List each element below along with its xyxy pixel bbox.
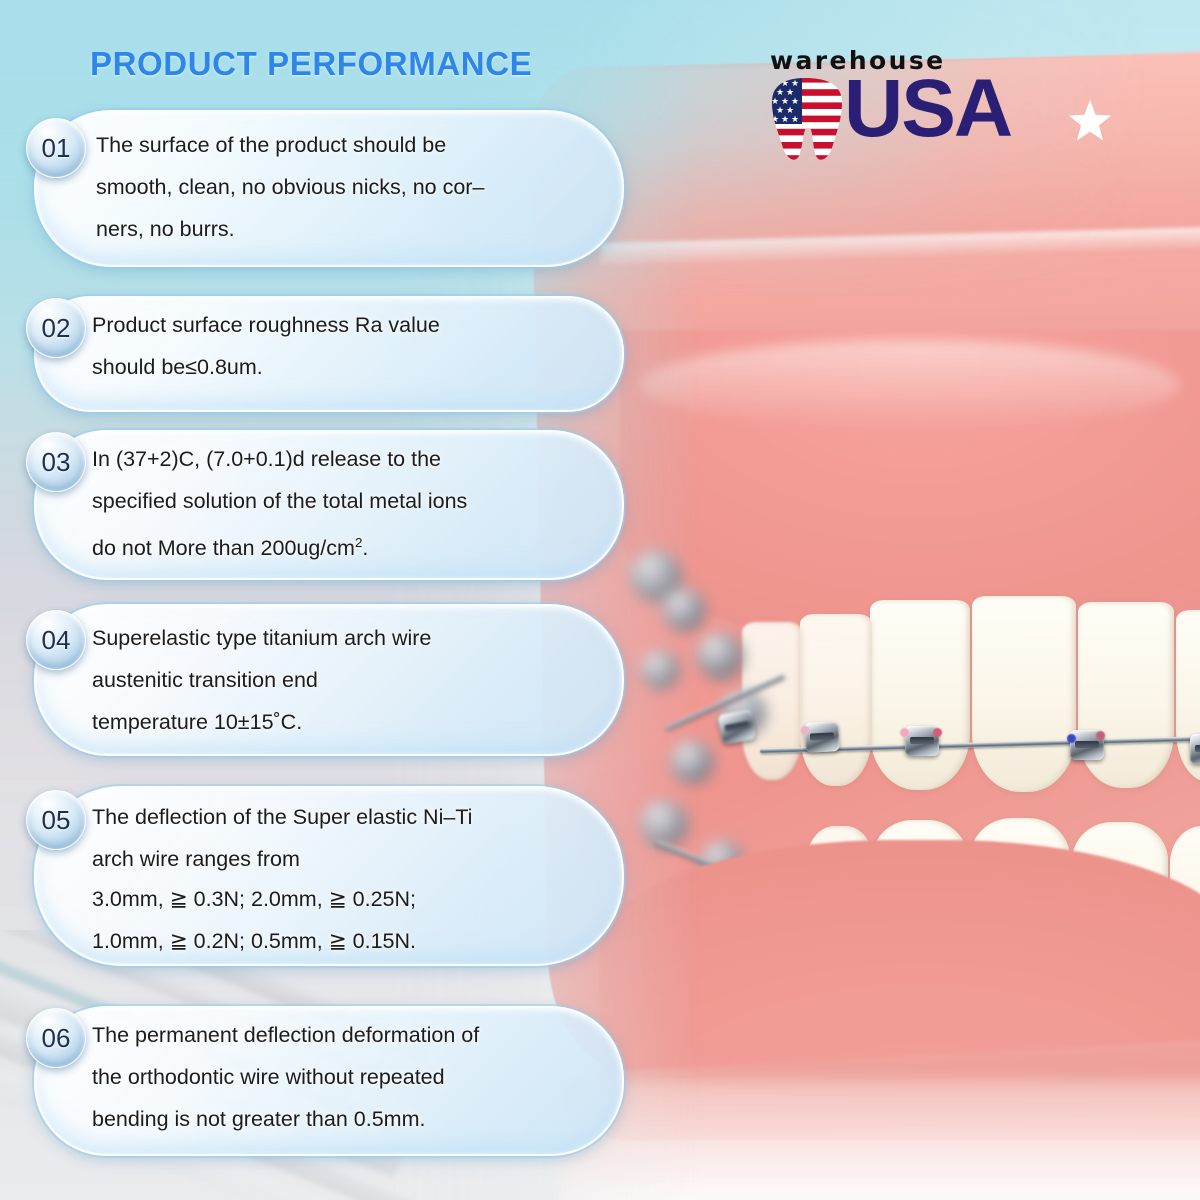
spec-number-badge: 05 [26,790,86,850]
spec-number-badge: 03 [26,432,86,492]
spec-line: arch wire ranges from [92,839,300,879]
spec-line: specified solution of the total metal io… [92,481,467,521]
page-title: PRODUCT PERFORMANCE [90,45,532,83]
spec-line: temperature 10±15˚C. [92,702,302,742]
spec-number-badge: 01 [26,118,86,178]
spec-line: smooth, clean, no obvious nicks, no cor– [96,167,484,207]
spec-number-badge: 02 [26,298,86,358]
svg-text:★: ★ [781,115,789,125]
spec-number: 05 [42,805,71,836]
spec-line: 3.0mm, ≧ 0.3N; 2.0mm, ≧ 0.25N; [92,879,416,919]
spec-line: bending is not greater than 0.5mm. [92,1099,425,1139]
spec-line: The deflection of the Super elastic Ni–T… [92,797,472,837]
brand-logo: warehouse [762,46,1162,156]
spec-line: ners, no burrs. [96,209,235,249]
spec-line: 1.0mm, ≧ 0.2N; 0.5mm, ≧ 0.15N. [92,921,416,961]
spec-line: The surface of the product should be [96,125,446,165]
spec-line: Superelastic type titanium arch wire [92,618,431,658]
infographic-root: PRODUCT PERFORMANCE warehouse [0,0,1200,1200]
spec-number: 06 [42,1023,71,1054]
spec-number: 02 [42,313,71,344]
spec-line: The permanent deflection deformation of [92,1015,479,1055]
spec-line: the orthodontic wire without repeated [92,1057,445,1097]
spec-line: austenitic transition end [92,660,318,700]
logo-usa-text: USA [844,68,1011,150]
spec-number: 04 [42,625,71,656]
spec-line: In (37+2)C, (7.0+0.1)d release to the [92,439,441,479]
content-layer: PRODUCT PERFORMANCE warehouse [0,0,1200,1200]
tooth-flag-icon: ★★★ ★★ ★★★ ★★ ★★★ [768,76,844,162]
spec-number-badge: 06 [26,1008,86,1068]
svg-text:★: ★ [791,115,799,125]
spec-line: should be≤0.8um. [92,347,263,387]
spec-line: do not More than 200ug/cm2. [92,523,368,568]
star-icon [1067,98,1113,144]
spec-number: 03 [42,447,71,478]
spec-number-badge: 04 [26,610,86,670]
spec-number: 01 [42,133,71,164]
svg-text:★: ★ [771,115,779,125]
spec-line: Product surface roughness Ra value [92,305,440,345]
